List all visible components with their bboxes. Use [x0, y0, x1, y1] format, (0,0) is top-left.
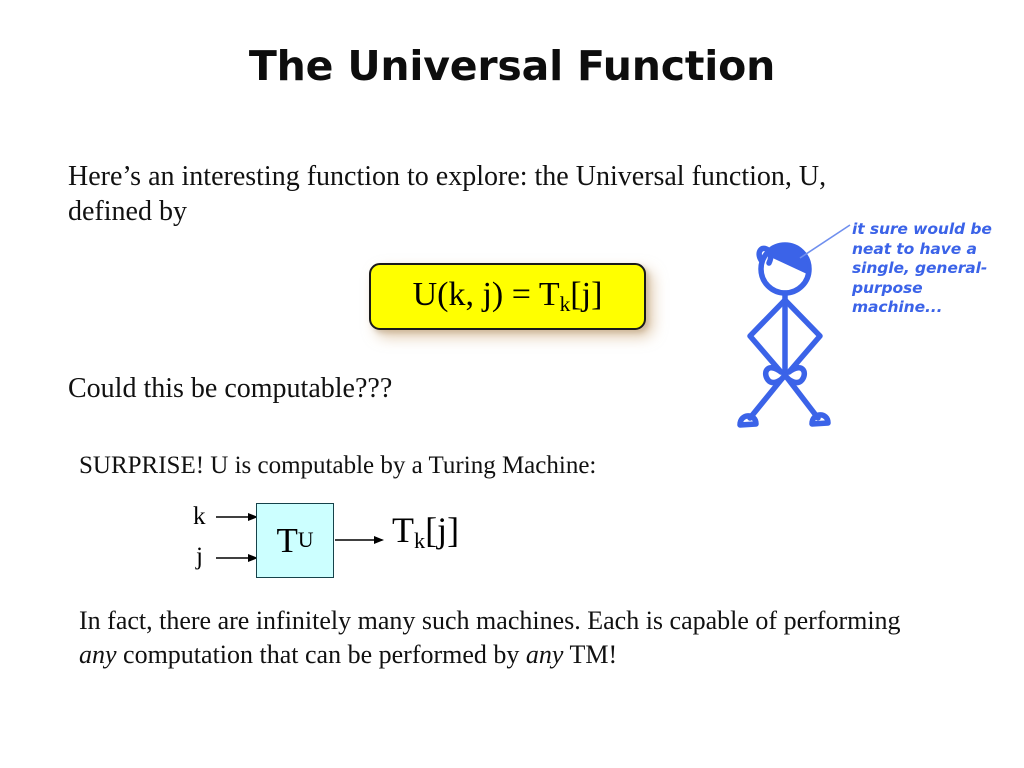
question-line: Could this be computable???: [68, 372, 392, 406]
output-subscript: k: [414, 528, 425, 553]
diagram-output-label: Tk[j]: [392, 512, 459, 553]
universal-machine-label: TU: [257, 504, 333, 577]
closing-emphasis-2: any: [526, 640, 564, 669]
page-title: The Universal Function: [0, 42, 1024, 90]
leader-line: [800, 225, 850, 258]
machine-label-base: T: [276, 523, 297, 558]
universal-machine-box: TU: [256, 503, 334, 578]
formula-subscript: k: [560, 292, 571, 316]
closing-suffix: TM!: [563, 640, 617, 669]
output-base: T: [392, 510, 414, 550]
diagram-arrows: [180, 492, 510, 592]
closing-emphasis-1: any: [79, 640, 117, 669]
surprise-line: SURPRISE! U is computable by a Turing Ma…: [79, 450, 596, 482]
closing-prefix: In fact, there are infinitely many such …: [79, 606, 901, 635]
formula-rhs: [j]: [570, 276, 602, 313]
diagram-input-label-k: k: [193, 504, 206, 529]
stick-figure-group: it sure would be neat to have a single, …: [728, 212, 1024, 440]
speech-annotation: it sure would be neat to have a single, …: [852, 220, 1012, 318]
closing-paragraph: In fact, there are infinitely many such …: [79, 604, 909, 672]
diagram-input-label-j: j: [196, 544, 203, 569]
formula-text: U(k, j) = Tk[j]: [413, 278, 603, 315]
closing-middle: computation that can be performed by: [117, 640, 526, 669]
output-suffix: [j]: [425, 510, 459, 550]
slide-canvas: The Universal Function Here’s an interes…: [0, 0, 1024, 768]
formula-lhs: U(k, j) = T: [413, 276, 560, 313]
machine-label-subscript: U: [298, 530, 314, 552]
universal-machine-diagram: k j TU Tk[j]: [180, 492, 510, 592]
formula-box: U(k, j) = Tk[j]: [369, 263, 646, 330]
